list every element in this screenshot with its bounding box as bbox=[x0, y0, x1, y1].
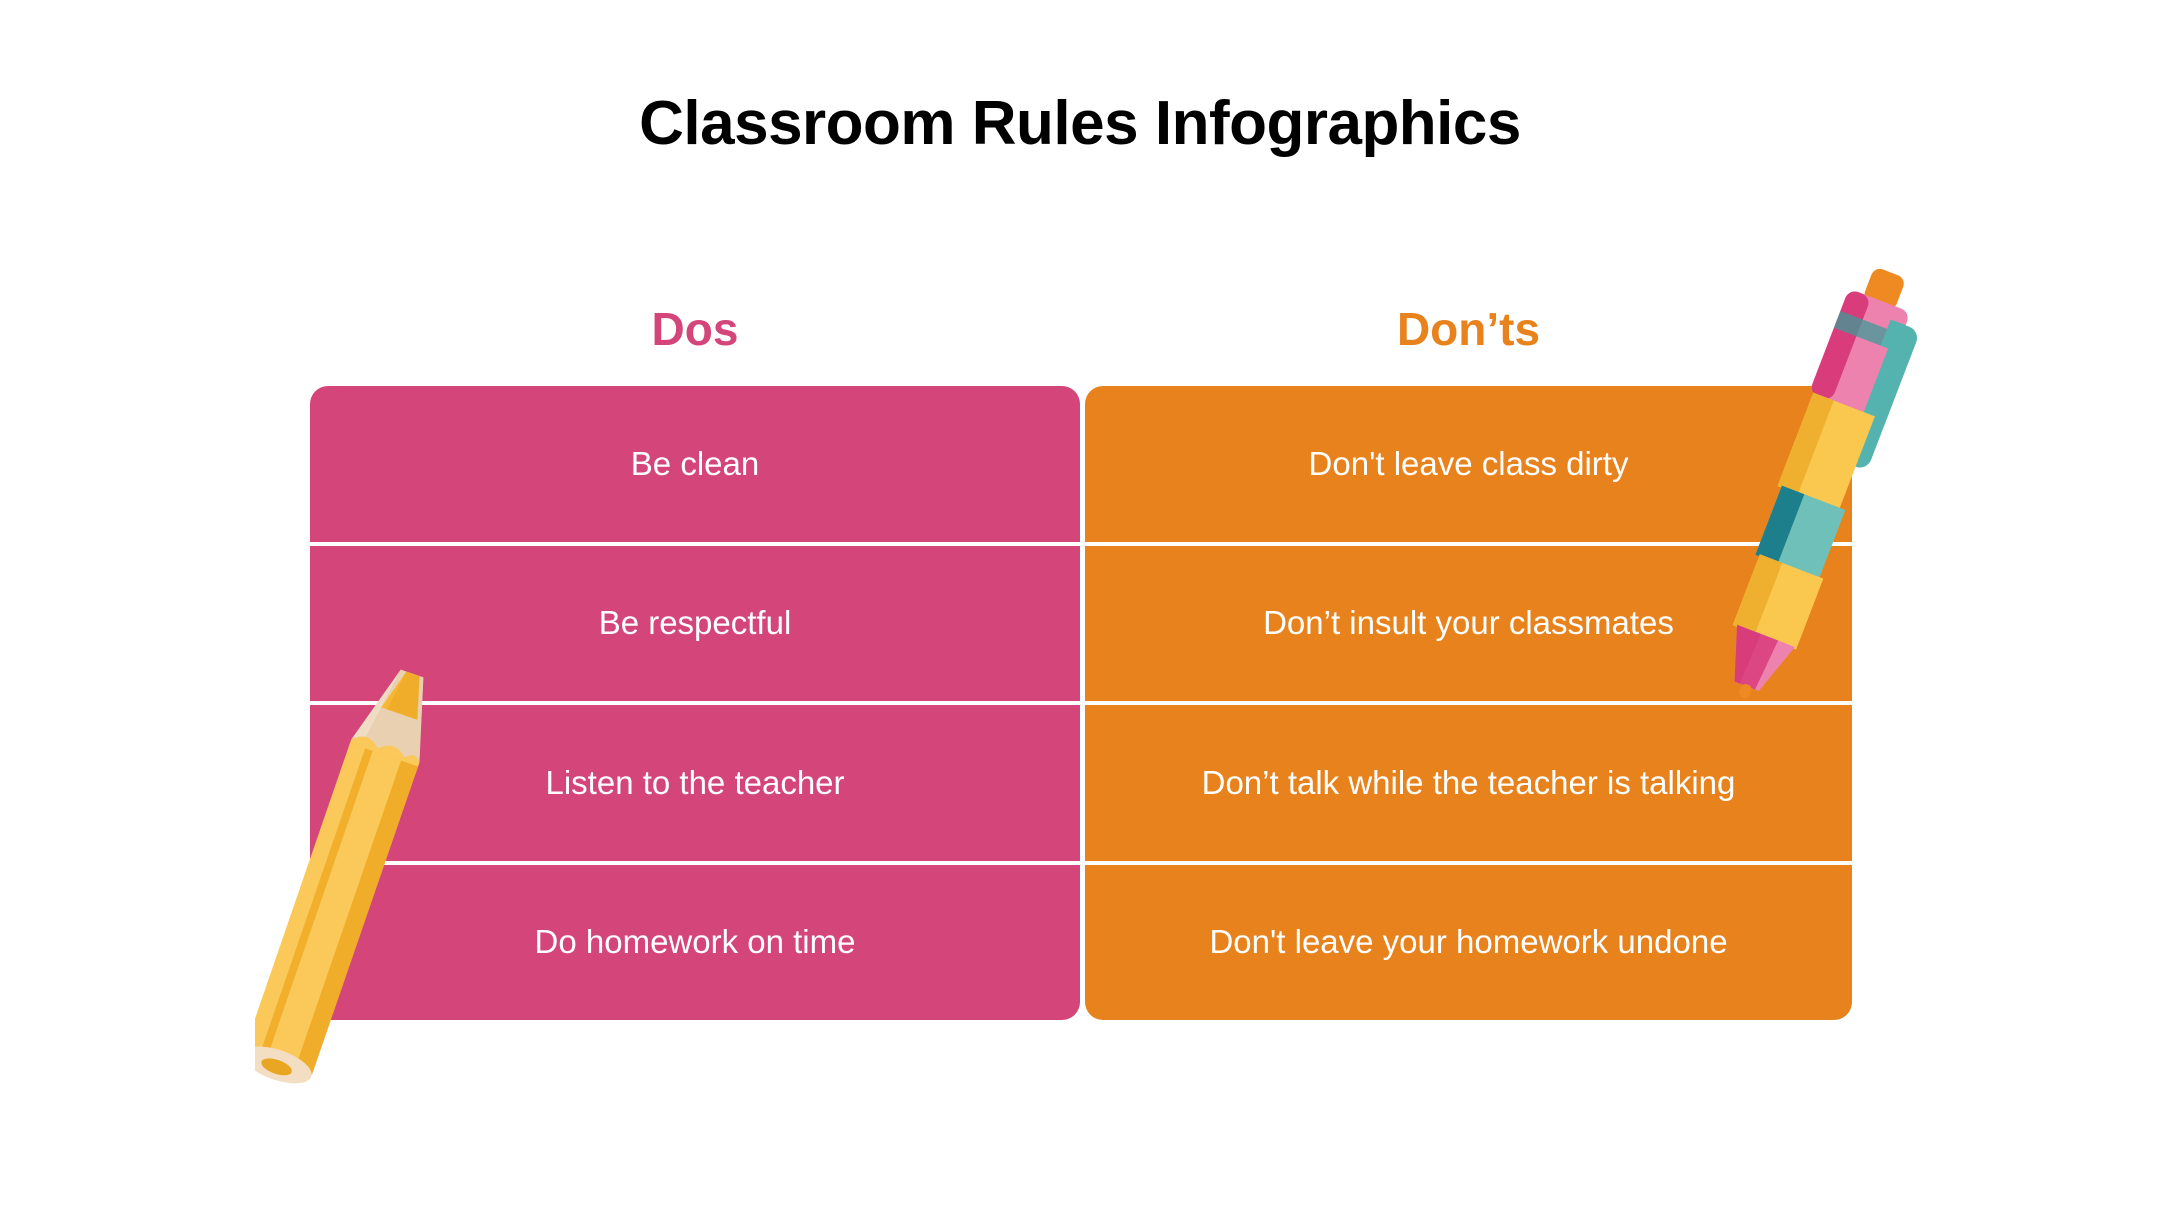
table-row: Be respectful bbox=[310, 542, 1080, 702]
table-row: Listen to the teacher bbox=[310, 701, 1080, 861]
table-row: Don’t talk while the teacher is talking bbox=[1085, 701, 1852, 861]
page-title: Classroom Rules Infographics bbox=[0, 88, 2160, 159]
table-row: Don't leave class dirty bbox=[1085, 386, 1852, 542]
table-row: Don't leave your homework undone bbox=[1085, 861, 1852, 1021]
dos-table: Be clean Be respectful Listen to the tea… bbox=[310, 386, 1080, 1020]
column-header-donts: Don’ts bbox=[1085, 302, 1852, 356]
table-row: Don’t insult your classmates bbox=[1085, 542, 1852, 702]
table-row: Do homework on time bbox=[310, 861, 1080, 1021]
column-header-dos: Dos bbox=[310, 302, 1080, 356]
slide-canvas: Classroom Rules Infographics Dos Don’ts … bbox=[0, 0, 2160, 1215]
donts-table: Don't leave class dirty Don’t insult you… bbox=[1085, 386, 1852, 1020]
table-row: Be clean bbox=[310, 386, 1080, 542]
